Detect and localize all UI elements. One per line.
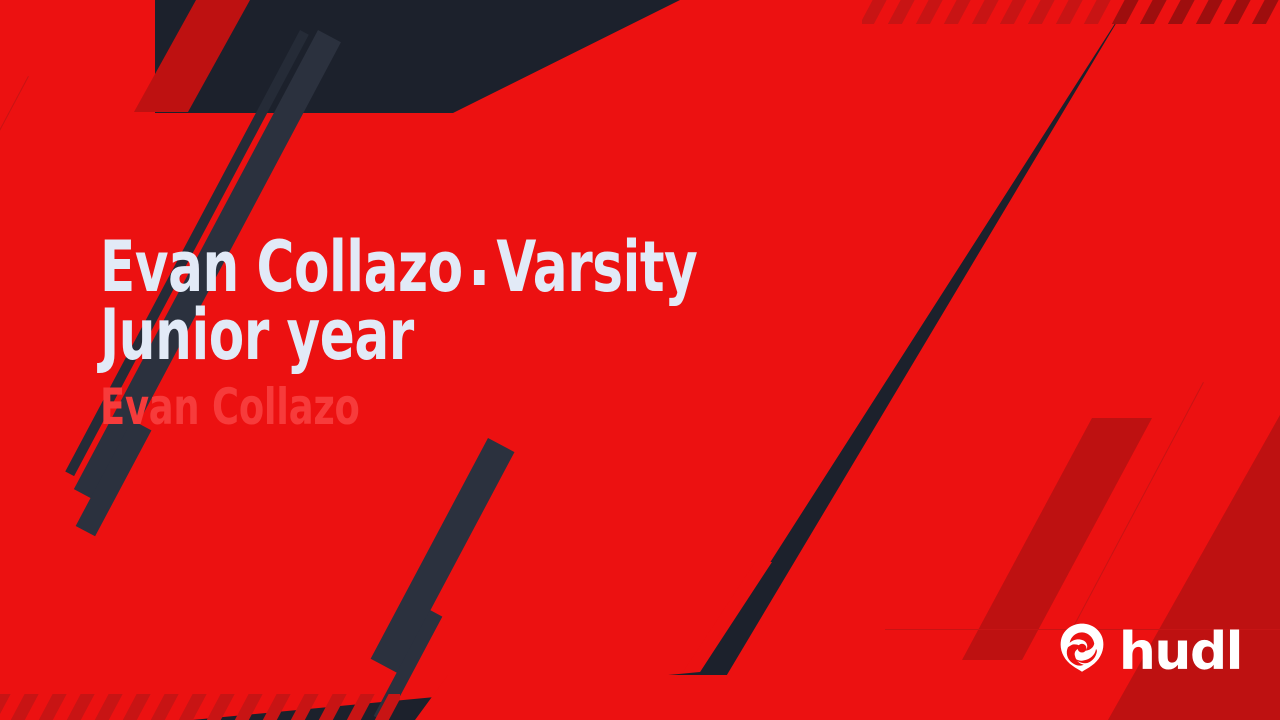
subtitle: Evan Collazo <box>100 382 748 432</box>
title-part-level: Varsity <box>496 226 697 308</box>
hash-band-bottom-left <box>0 694 400 720</box>
title-separator-icon <box>474 270 485 285</box>
page-title: Evan CollazoVarsityJunior year <box>100 234 748 370</box>
hairline-topleft <box>0 76 29 377</box>
title-line-two: Junior year <box>100 294 414 376</box>
slash-accent-4 <box>371 438 515 673</box>
hash-band-top-right <box>862 0 1280 24</box>
slash-accent-3 <box>76 420 152 536</box>
title-text-block: Evan CollazoVarsityJunior year Evan Coll… <box>100 234 890 432</box>
hairline-right-diagonal <box>1067 382 1204 639</box>
hudl-shield-icon <box>1054 621 1110 682</box>
hudl-logo: hudl <box>1054 621 1242 682</box>
title-card: Evan CollazoVarsityJunior year Evan Coll… <box>0 0 1280 720</box>
hudl-wordmark: hudl <box>1119 626 1242 678</box>
